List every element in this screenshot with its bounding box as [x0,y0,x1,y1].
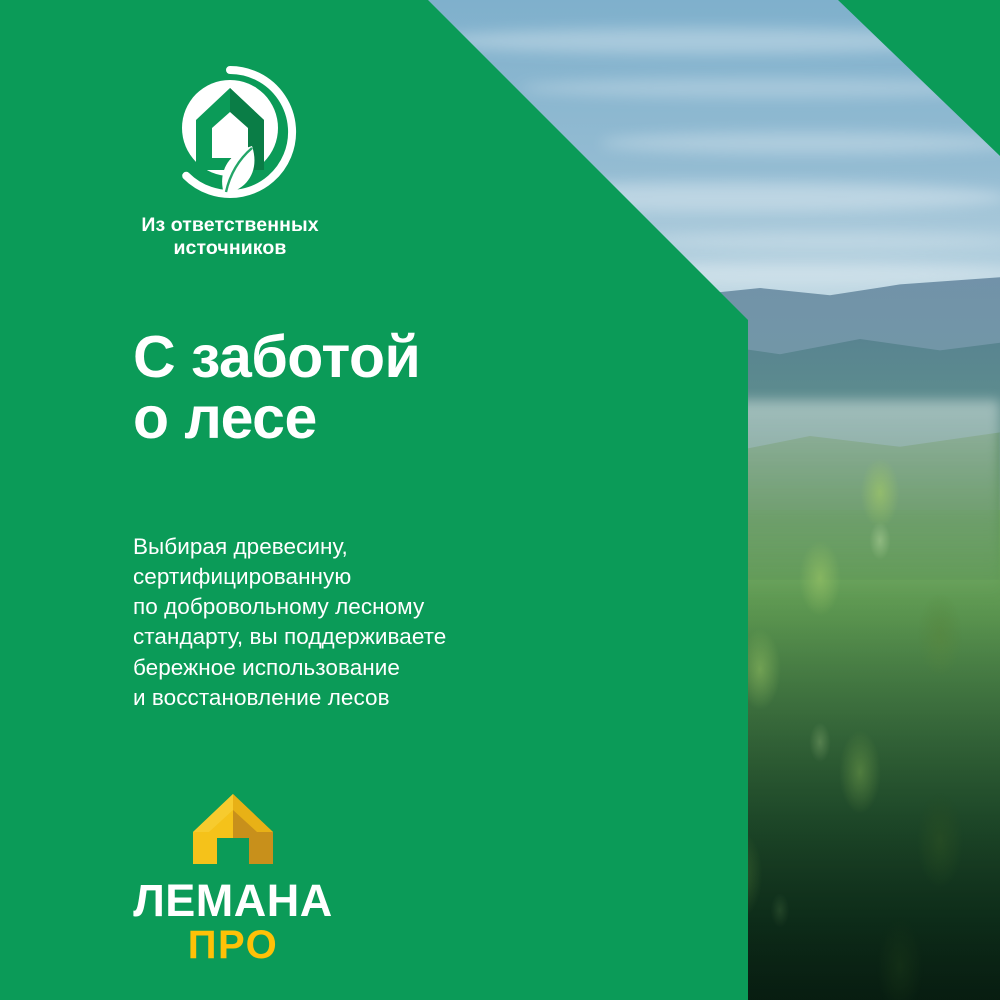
brand-lockup: ЛЕМАНА ПРО [133,790,333,965]
headline: С заботой о лесе [133,327,420,450]
badge-caption: Из ответственных источников [132,214,328,260]
responsible-sources-badge: Из ответственных источников [132,62,328,260]
poster-canvas: Из ответственных источников С заботой о … [0,0,1000,1000]
content-column: Из ответственных источников С заботой о … [0,0,748,1000]
body-copy: Выбирая древесину, сертифицированную по … [133,532,446,713]
lemana-house-icon [187,790,279,868]
brand-subname: ПРО [133,925,333,965]
responsible-sources-logo-icon [160,62,300,202]
brand-name: ЛЕМАНА [133,878,333,923]
